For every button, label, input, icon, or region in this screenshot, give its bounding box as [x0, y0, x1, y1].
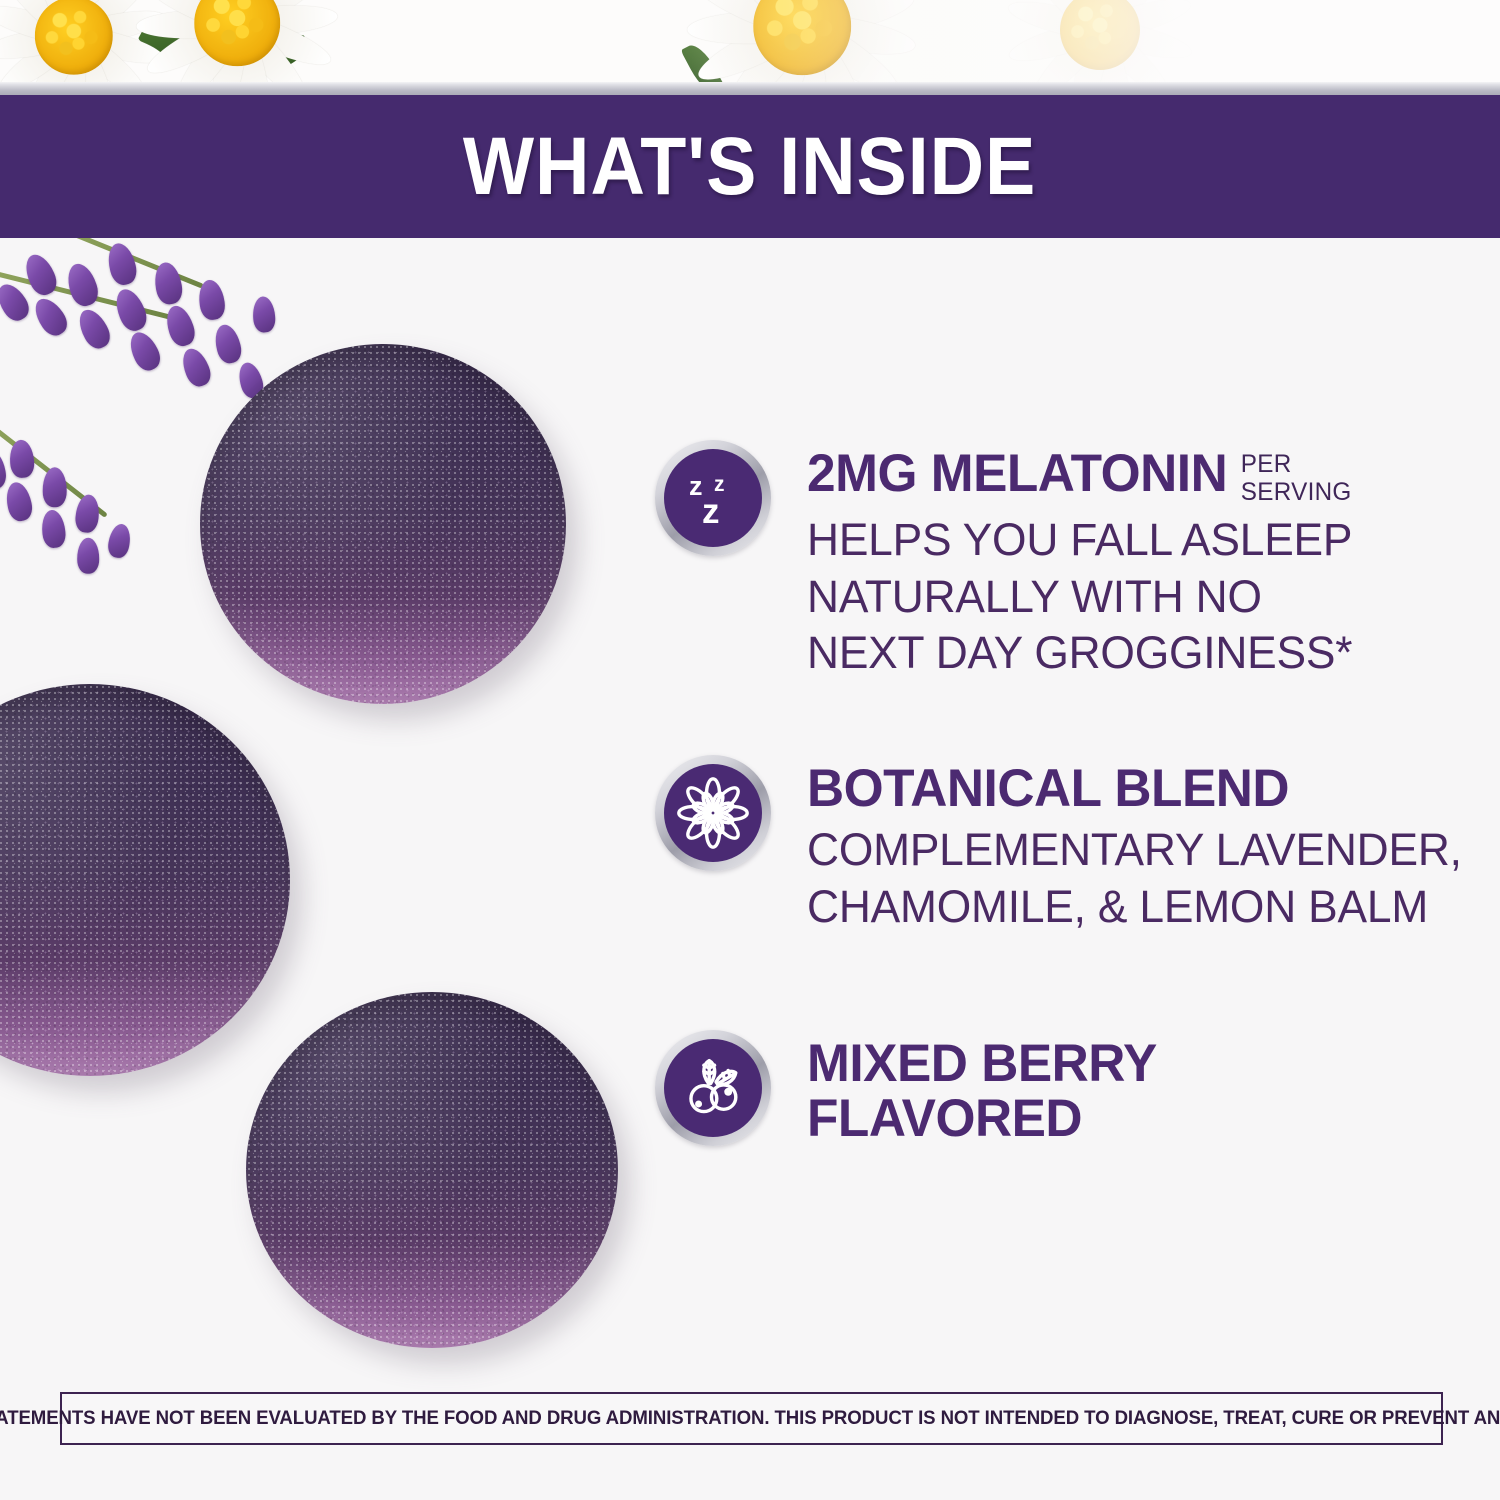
svg-text:z: z	[689, 471, 703, 501]
flower-mandala-icon	[655, 755, 771, 871]
feature-body-line: HELPS YOU FALL ASLEEP	[807, 512, 1360, 569]
feature-item-botanical: BOTANICAL BLEND COMPLEMENTARY LAVENDER, …	[655, 755, 1472, 935]
silver-divider-strip	[0, 82, 1500, 96]
zzz-sleep-icon: z z z	[655, 440, 771, 556]
feature-body-line: NEXT DAY GROGGINESS*	[807, 625, 1360, 682]
feature-body-line: COMPLEMENTARY LAVENDER,	[807, 822, 1462, 879]
gummy-product-3	[246, 992, 618, 1348]
feature-item-flavor: MIXED BERRY FLAVORED	[655, 1030, 1168, 1146]
chamomile-decor-strip	[0, 0, 1500, 84]
per-serving-note: PERSERVING	[1241, 450, 1352, 506]
feature-body: HELPS YOU FALL ASLEEP NATURALLY WITH NO …	[807, 512, 1360, 682]
product-infographic: WHAT'S INSIDE	[0, 0, 1500, 1500]
feature-body-line: CHAMOMILE, & LEMON BALM	[807, 879, 1462, 936]
berries-icon	[655, 1030, 771, 1146]
fda-disclaimer-box: *THESE STATEMENTS HAVE NOT BEEN EVALUATE…	[60, 1392, 1443, 1445]
feature-heading: BOTANICAL BLEND	[807, 761, 1452, 816]
fda-disclaimer-text: *THESE STATEMENTS HAVE NOT BEEN EVALUATE…	[0, 1407, 1500, 1430]
lavender-sprig	[0, 409, 180, 611]
feature-body: COMPLEMENTARY LAVENDER, CHAMOMILE, & LEM…	[807, 822, 1462, 935]
feature-heading-text: 2MG MELATONIN	[807, 444, 1227, 503]
header-banner: WHAT'S INSIDE	[0, 95, 1500, 238]
gummy-product-2	[0, 684, 290, 1076]
feature-item-melatonin: z z z 2MG MELATONINPERSERVING HELPS YOU …	[655, 440, 1368, 682]
feature-heading-text: MIXED BERRY	[807, 1036, 1157, 1091]
feature-heading-text: BOTANICAL BLEND	[807, 759, 1289, 818]
page-title: WHAT'S INSIDE	[463, 120, 1036, 214]
feature-heading: 2MG MELATONINPERSERVING	[807, 446, 1352, 506]
floral-fade-overlay	[0, 0, 1500, 84]
feature-body-line: NATURALLY WITH NO	[807, 569, 1360, 626]
feature-heading: MIXED BERRY FLAVORED	[807, 1036, 1157, 1146]
feature-heading-text-line2: FLAVORED	[807, 1091, 1157, 1146]
gummy-product-1	[200, 344, 566, 704]
svg-text:z: z	[702, 492, 720, 531]
